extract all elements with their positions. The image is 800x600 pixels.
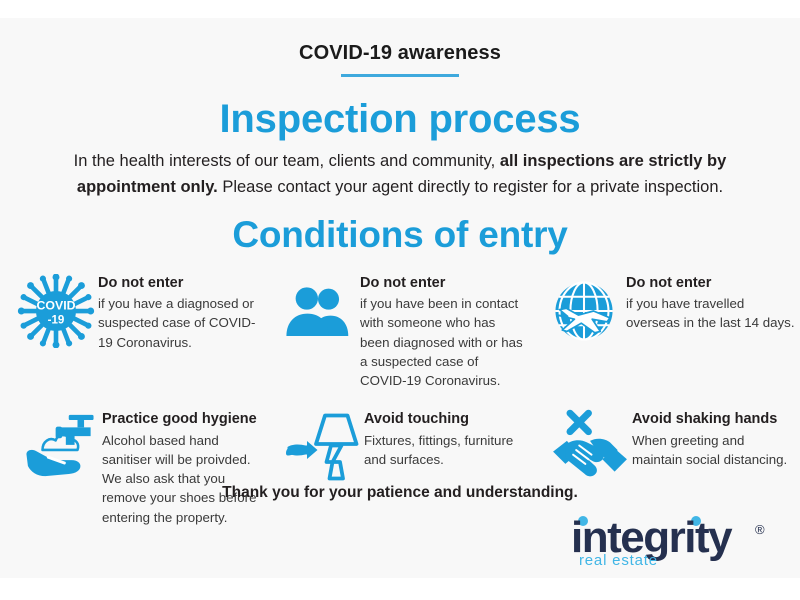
thank-you-text: Thank you for your patience and understa… — [0, 484, 800, 502]
condition-item: COVID -19 Do not enter if you have a dia… — [0, 272, 270, 390]
handshake-crossed-icon — [548, 408, 632, 486]
condition-title: Practice good hygiene — [102, 410, 270, 428]
condition-body: if you have a diagnosed or suspected cas… — [98, 294, 270, 352]
lamp-pointing-hand-icon — [280, 408, 364, 486]
condition-item: Avoid touching Fixtures, fittings, furni… — [270, 408, 532, 526]
condition-body: if you have been in contact with someone… — [360, 294, 528, 390]
cross-mark — [570, 414, 588, 432]
two-people-icon — [276, 272, 360, 350]
condition-title: Do not enter — [626, 274, 796, 292]
condition-title: Avoid touching — [364, 410, 529, 428]
condition-text: Avoid shaking hands When greeting and ma… — [632, 408, 790, 469]
section-title: Conditions of entry — [0, 214, 800, 256]
condition-text: Avoid touching Fixtures, fittings, furni… — [364, 408, 529, 469]
condition-item: Do not enter if you have travelled overs… — [532, 272, 800, 390]
logo-trademark: ® — [755, 522, 765, 537]
condition-item: Practice good hygiene Alcohol based hand… — [0, 408, 270, 526]
condition-body: Fixtures, fittings, furniture and surfac… — [364, 431, 529, 470]
condition-body: if you have travelled overseas in the la… — [626, 294, 796, 333]
condition-title: Do not enter — [98, 274, 270, 292]
condition-text: Do not enter if you have travelled overs… — [626, 272, 796, 333]
condition-body: When greeting and maintain social distan… — [632, 431, 790, 470]
logo-tagline: real estate — [579, 552, 658, 569]
condition-title: Avoid shaking hands — [632, 410, 790, 428]
condition-title: Do not enter — [360, 274, 528, 292]
intro-paragraph: In the health interests of our team, cli… — [46, 148, 754, 200]
globe-airplane-icon — [542, 272, 626, 350]
condition-body: Alcohol based hand sanitiser will be pro… — [102, 431, 270, 527]
condition-text: Do not enter if you have been in contact… — [360, 272, 528, 390]
hand-washing-tap-icon — [18, 408, 102, 486]
poster-canvas: COVID-19 awareness Inspection process In… — [0, 0, 800, 600]
covid-icon-label-top: COVID — [36, 298, 75, 312]
condition-text: Practice good hygiene Alcohol based hand… — [102, 408, 270, 526]
eyebrow-underline — [341, 74, 459, 77]
page-title: Inspection process — [0, 97, 800, 142]
eyebrow-block: COVID-19 awareness — [0, 42, 800, 77]
conditions-row: COVID -19 Do not enter if you have a dia… — [0, 272, 800, 390]
condition-text: Do not enter if you have a diagnosed or … — [98, 272, 270, 352]
covid-icon-label-bottom: -19 — [48, 314, 65, 326]
intro-text-2: Please contact your agent directly to re… — [218, 178, 723, 196]
intro-text-1: In the health interests of our team, cli… — [74, 152, 500, 170]
covid-virus-icon: COVID -19 — [14, 272, 98, 350]
integrity-logo: integrity ® real estate — [567, 508, 782, 570]
condition-item: Do not enter if you have been in contact… — [270, 272, 532, 390]
eyebrow-text: COVID-19 awareness — [0, 42, 800, 64]
